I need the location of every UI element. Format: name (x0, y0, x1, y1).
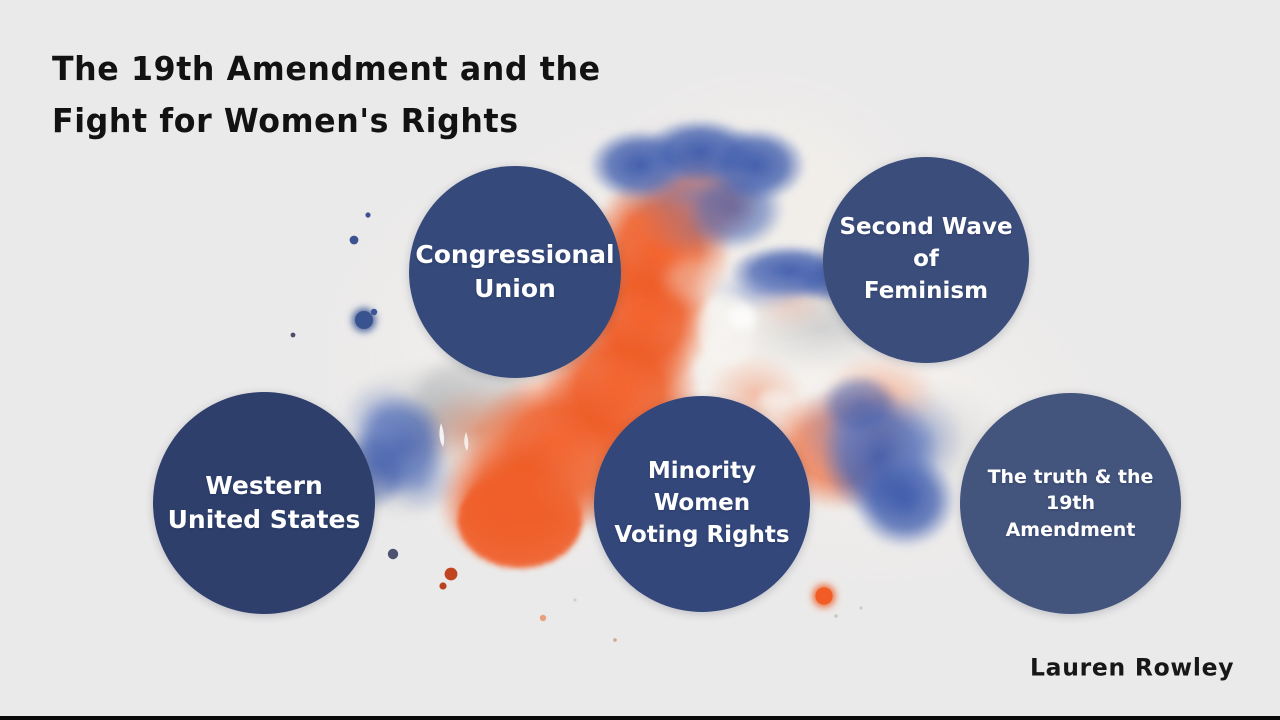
topic-bubble-western-united-states[interactable]: Western United States (153, 392, 375, 614)
topic-bubble-label: The truth & the 19th Amendment (960, 464, 1181, 543)
topic-bubble-label: Second Wave of Feminism (823, 212, 1029, 307)
letterbox-bar (0, 716, 1280, 720)
author-byline: Lauren Rowley (1030, 654, 1234, 682)
topic-bubble-congressional-union[interactable]: Congressional Union (409, 166, 621, 378)
page-title: The 19th Amendment and the Fight for Wom… (52, 44, 684, 148)
presentation-slide: The 19th Amendment and the Fight for Wom… (0, 0, 1280, 720)
topic-bubble-label: Western United States (158, 469, 371, 538)
topic-bubble-minority-women-voting-rights[interactable]: Minority Women Voting Rights (594, 396, 810, 612)
topic-bubble-second-wave-feminism[interactable]: Second Wave of Feminism (823, 157, 1029, 363)
topic-bubble-truth-19th-amendment[interactable]: The truth & the 19th Amendment (960, 393, 1181, 614)
topic-bubble-label: Minority Women Voting Rights (594, 456, 810, 551)
topic-bubble-label: Congressional Union (405, 238, 624, 307)
